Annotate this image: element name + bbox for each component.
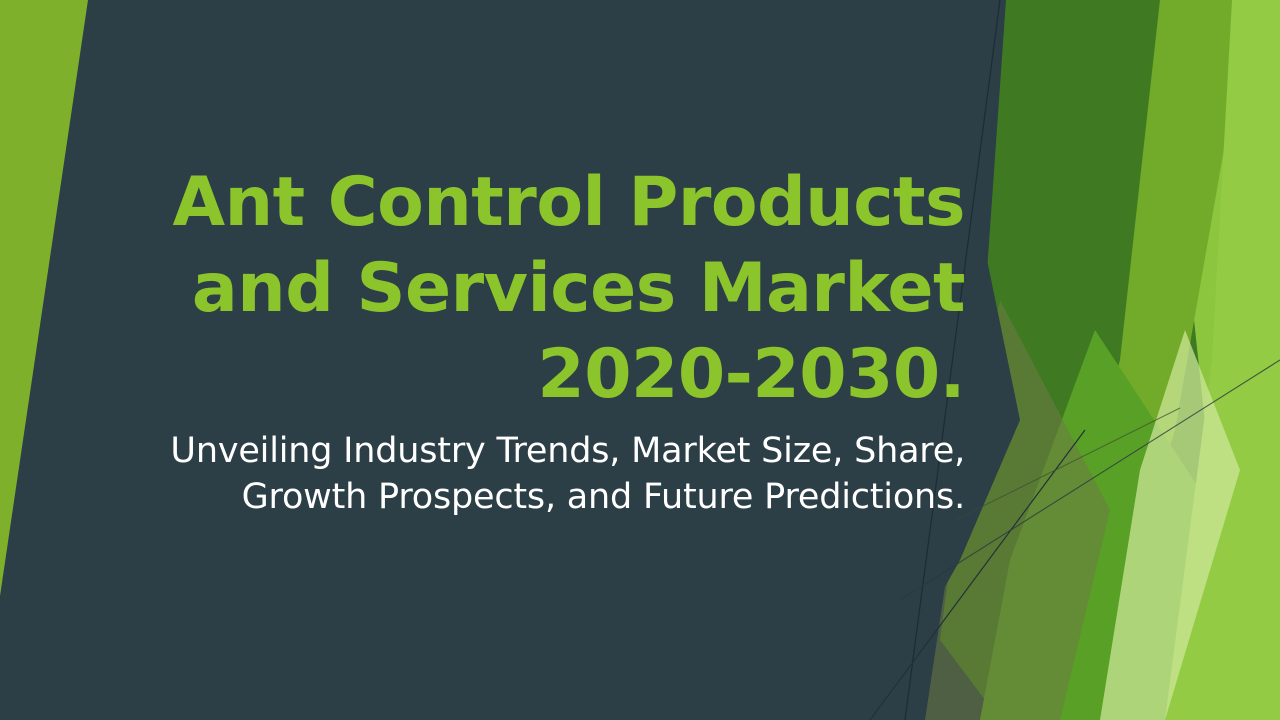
page-title: Ant Control Products and Services Market… — [150, 160, 965, 418]
subtitle-block: Unveiling Industry Trends, Market Size, … — [150, 428, 965, 520]
title-block: Ant Control Products and Services Market… — [150, 160, 965, 418]
slide-content: Ant Control Products and Services Market… — [0, 0, 1280, 720]
page-subtitle: Unveiling Industry Trends, Market Size, … — [150, 428, 965, 520]
slide-canvas: Ant Control Products and Services Market… — [0, 0, 1280, 720]
